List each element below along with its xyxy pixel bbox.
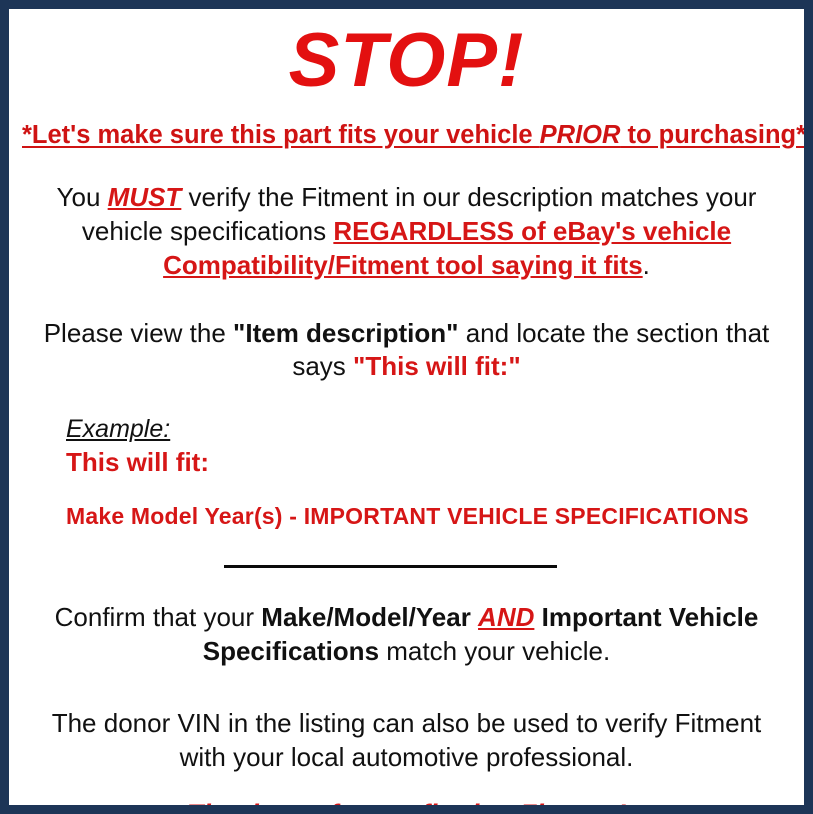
view-text-1: Please view the [44, 318, 233, 348]
make-model-year-emphasis: Make/Model/Year [261, 602, 478, 632]
fitment-notice-card: STOP! *Let's make sure this part fits yo… [0, 0, 813, 814]
confirm-text-1: Confirm that your [55, 602, 262, 632]
example-fit-line: This will fit: [66, 445, 791, 478]
subtitle-banner: *Let's make sure this part fits your veh… [22, 101, 791, 150]
subtitle-suffix: to purchasing* [620, 121, 806, 149]
notice-content: STOP! *Let's make sure this part fits yo… [9, 9, 804, 805]
must-emphasis: MUST [108, 182, 182, 212]
subtitle-emphasis: PRIOR [540, 121, 621, 149]
must-text-1: You [57, 182, 108, 212]
confirm-text-2: match your vehicle. [379, 636, 610, 666]
paragraph-donor-vin: The donor VIN in the listing can also be… [27, 669, 787, 775]
and-emphasis: AND [478, 602, 534, 632]
paragraph-item-description: Please view the "Item description" and l… [27, 283, 787, 385]
paragraph-confirm: Confirm that your Make/Model/Year AND Im… [27, 573, 787, 669]
example-spec-line: Make Model Year(s) - IMPORTANT VEHICLE S… [66, 479, 791, 531]
example-label-row: Example: [66, 414, 791, 445]
this-will-fit-quote: "This will fit:" [353, 351, 521, 381]
paragraph-must-verify: You MUST verify the Fitment in our descr… [27, 150, 787, 282]
must-text-3: . [643, 250, 650, 280]
closing-thanks: Thank you for confirming Fitment! [22, 774, 791, 814]
page-title: STOP! [22, 9, 791, 101]
subtitle-prefix: *Let's make sure this part fits your veh… [22, 121, 540, 149]
horizontal-divider [224, 565, 557, 568]
item-description-quote: "Item description" [233, 318, 458, 348]
example-block: Example: This will fit: Make Model Year(… [22, 384, 791, 530]
example-label: Example: [66, 414, 170, 445]
divider-row [22, 530, 791, 573]
